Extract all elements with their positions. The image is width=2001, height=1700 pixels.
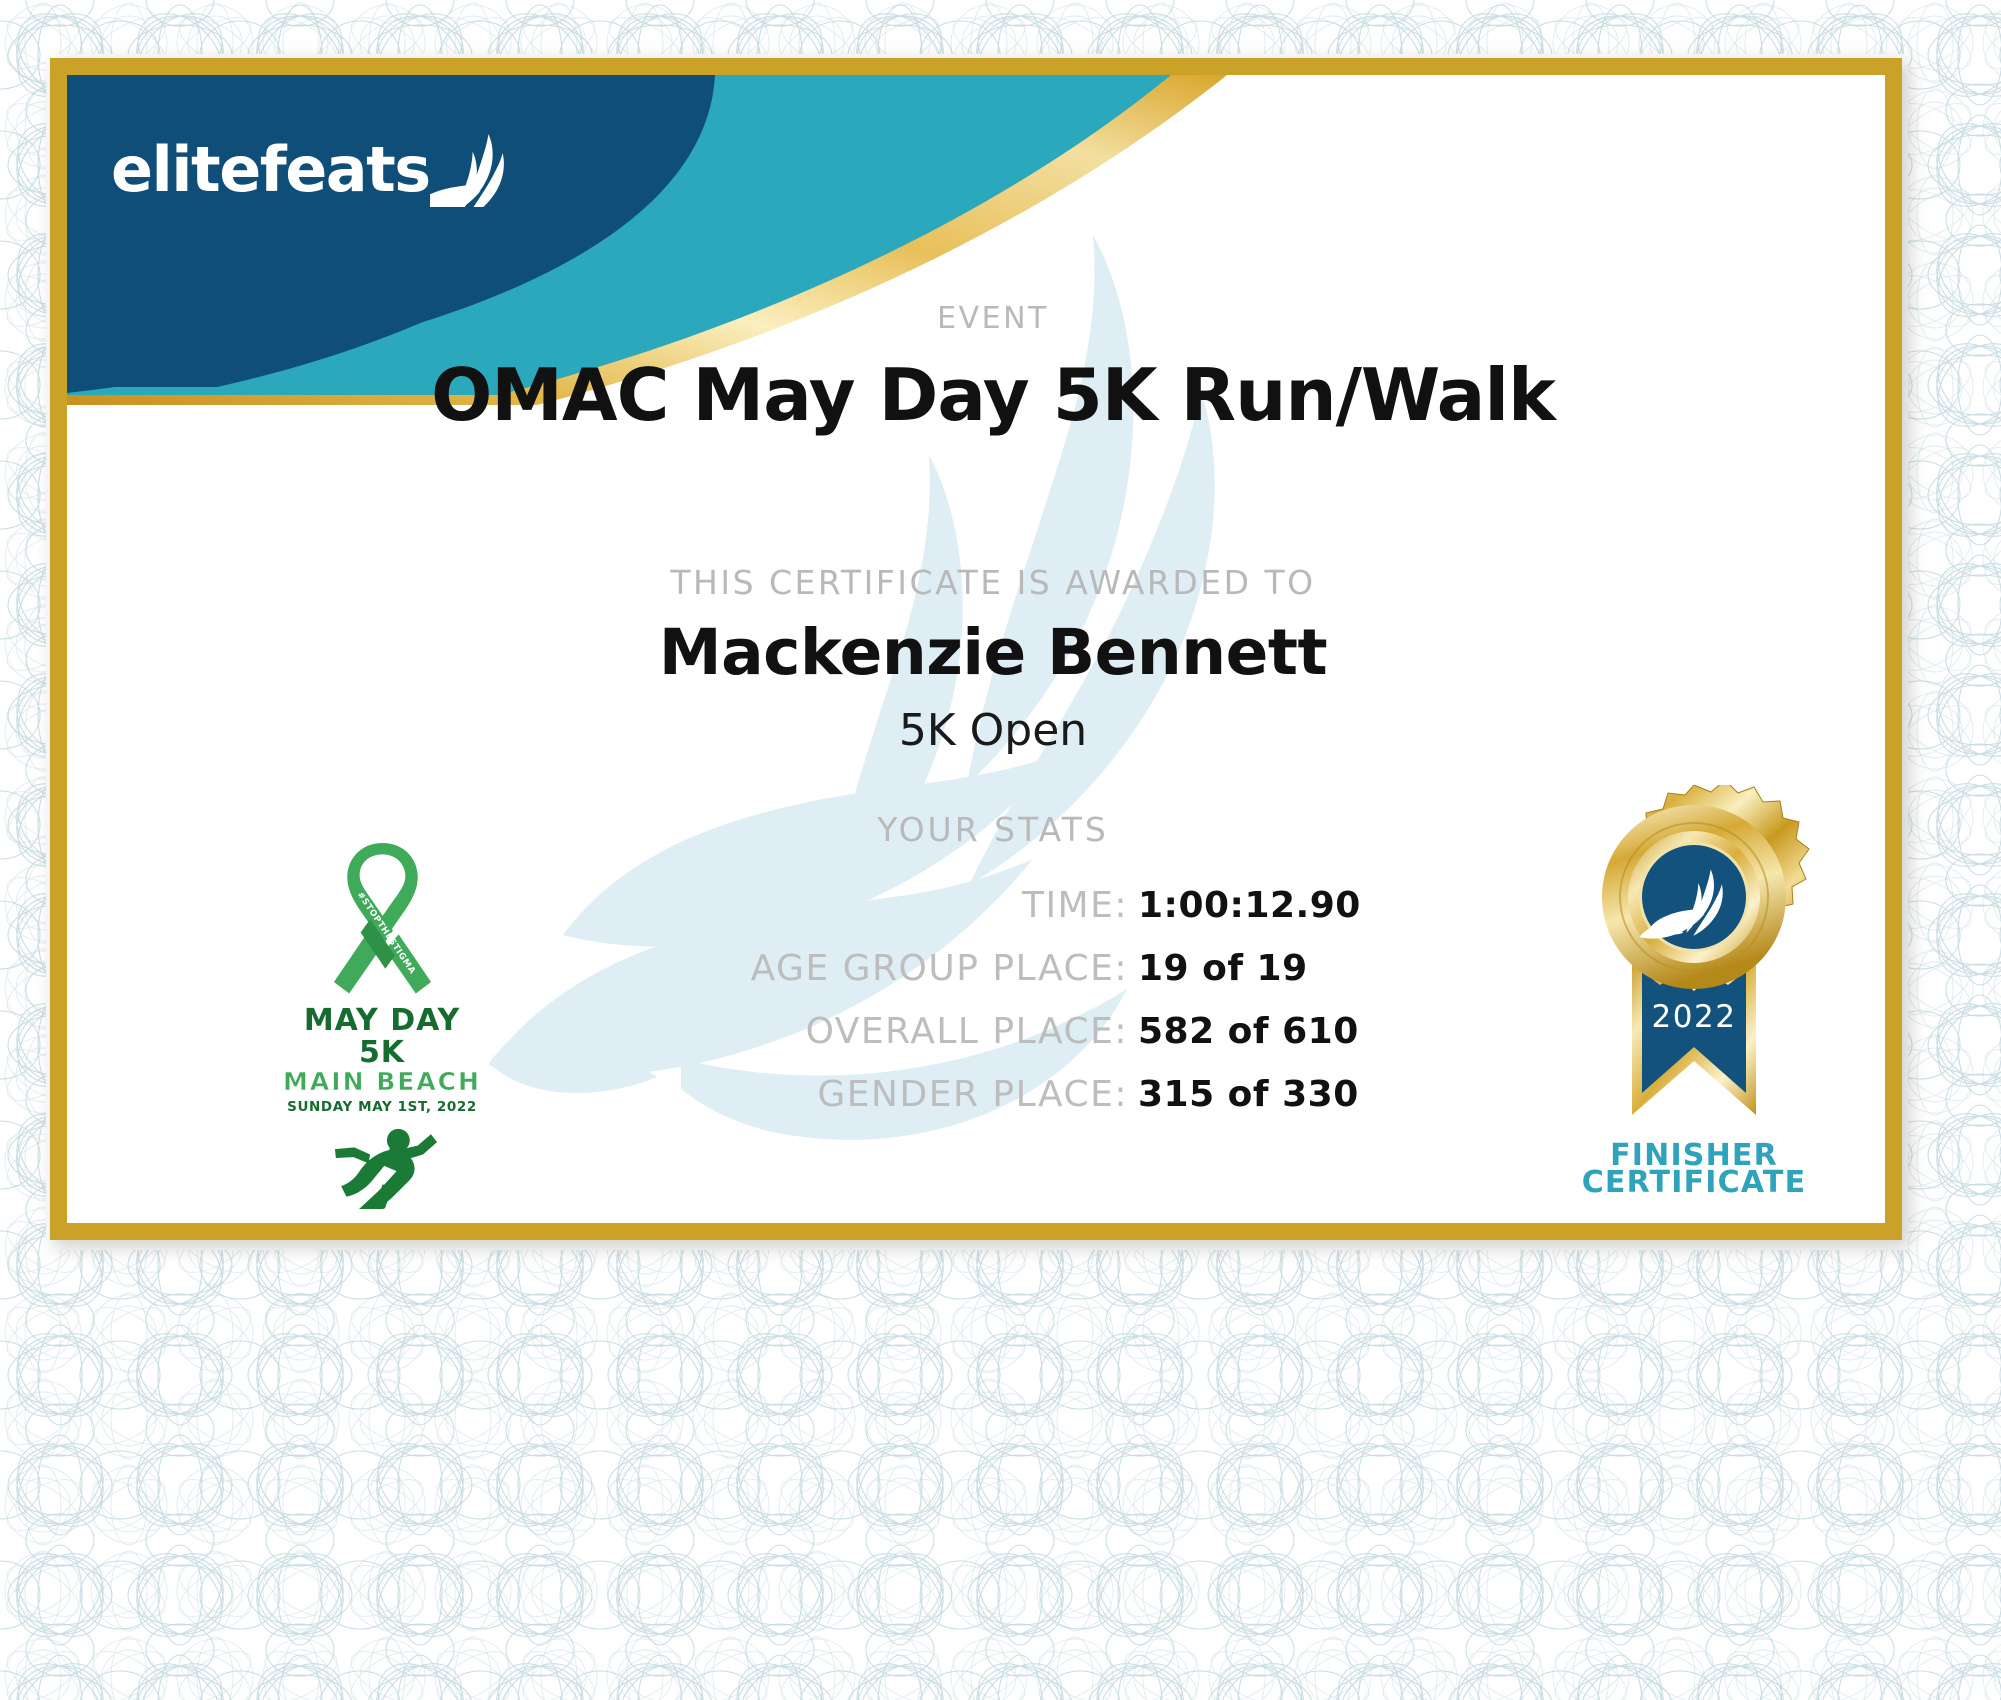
event-logo-line1: MAY DAY 5K [282, 1005, 482, 1068]
stat-label: AGE GROUP PLACE: [548, 948, 1128, 989]
stat-value: 582 of 610 [1138, 1011, 1438, 1052]
certificate-content: EVENT OMAC May Day 5K Run/Walk THIS CERT… [67, 75, 1885, 1223]
brand-logo: elitefeats [111, 131, 512, 201]
finisher-medal: 2022 FINISHER CERTIFICATE [1544, 785, 1844, 1215]
winged-foot-icon [430, 131, 512, 207]
event-label: EVENT [67, 301, 1885, 336]
running-figure-icon [320, 1121, 445, 1209]
brand-logo-text: elitefeats [111, 139, 430, 201]
medal-year: 2022 [1652, 999, 1737, 1035]
stat-value: 19 of 19 [1138, 948, 1438, 989]
medal-caption-line2: CERTIFICATE [1544, 1166, 1844, 1199]
event-title: OMAC May Day 5K Run/Walk [67, 353, 1885, 437]
event-logo-line3: SUNDAY MAY 1ST, 2022 [282, 1099, 482, 1115]
gold-award-medal-icon: 2022 [1564, 785, 1824, 1145]
stat-label: GENDER PLACE: [548, 1074, 1128, 1115]
stat-value: 1:00:12.90 [1138, 885, 1438, 926]
stat-value: 315 of 330 [1138, 1074, 1438, 1115]
awareness-ribbon-icon: #STOPTHESTIGMA [315, 843, 450, 1003]
certificate-gold-frame: elitefeats EVENT OMAC May Day 5K Run/Wal… [50, 58, 1902, 1240]
certificate-body: elitefeats EVENT OMAC May Day 5K Run/Wal… [67, 75, 1885, 1223]
division-label: 5K Open [67, 705, 1885, 756]
recipient-name: Mackenzie Bennett [67, 616, 1885, 689]
stat-label: OVERALL PLACE: [548, 1011, 1128, 1052]
stat-label: TIME: [548, 885, 1128, 926]
certificate-page: elitefeats EVENT OMAC May Day 5K Run/Wal… [0, 0, 2001, 1700]
event-logo: #STOPTHESTIGMA MAY DAY 5K MAIN BEACH SUN… [282, 843, 482, 1193]
event-logo-line2: MAIN BEACH [282, 1068, 482, 1096]
awarded-to-label: THIS CERTIFICATE IS AWARDED TO [67, 563, 1885, 602]
